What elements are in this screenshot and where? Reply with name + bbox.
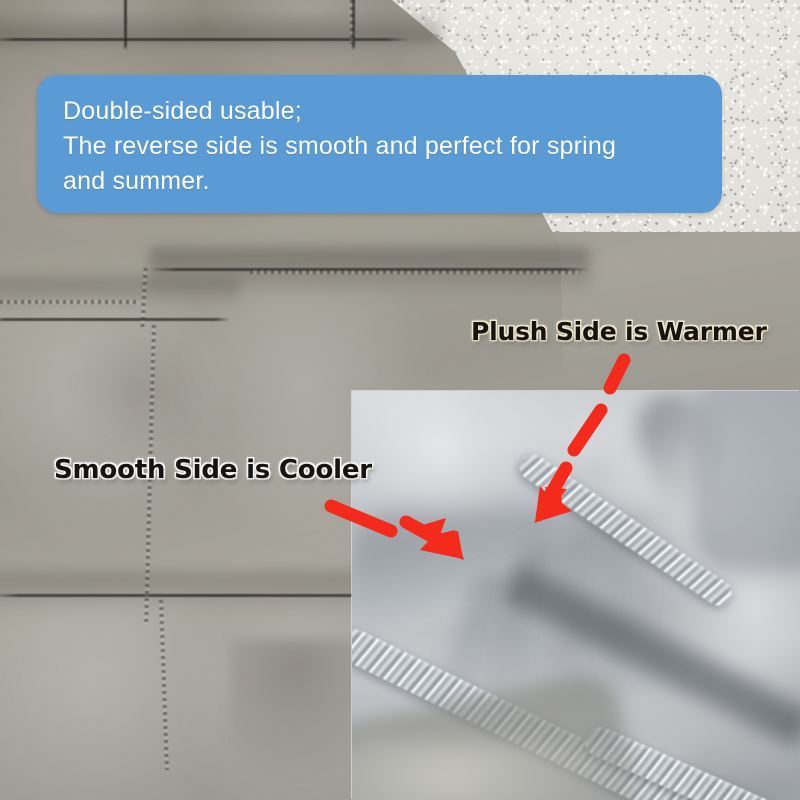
smooth-side-label: Smooth Side is Cooler	[54, 455, 372, 485]
quilt-stitching	[250, 270, 580, 274]
product-image-canvas: Plush Side is Warmer Smooth Side is Cool…	[0, 0, 800, 800]
plush-edge-closeup-photo	[352, 391, 800, 800]
banner-line-1: Double-sided usable;	[63, 94, 696, 129]
quilt-seam-horizontal	[0, 38, 410, 41]
banner-line-3: and summer.	[63, 164, 696, 199]
quilt-stitching	[350, 0, 354, 44]
plush-side-label: Plush Side is Warmer	[471, 317, 767, 346]
quilt-seam-vertical	[124, 0, 127, 50]
quilt-seam-horizontal	[0, 318, 230, 321]
quilt-stitching	[0, 300, 140, 304]
feature-caption-banner: Double-sided usable; The reverse side is…	[37, 75, 722, 213]
banner-line-2: The reverse side is smooth and perfect f…	[63, 129, 696, 164]
